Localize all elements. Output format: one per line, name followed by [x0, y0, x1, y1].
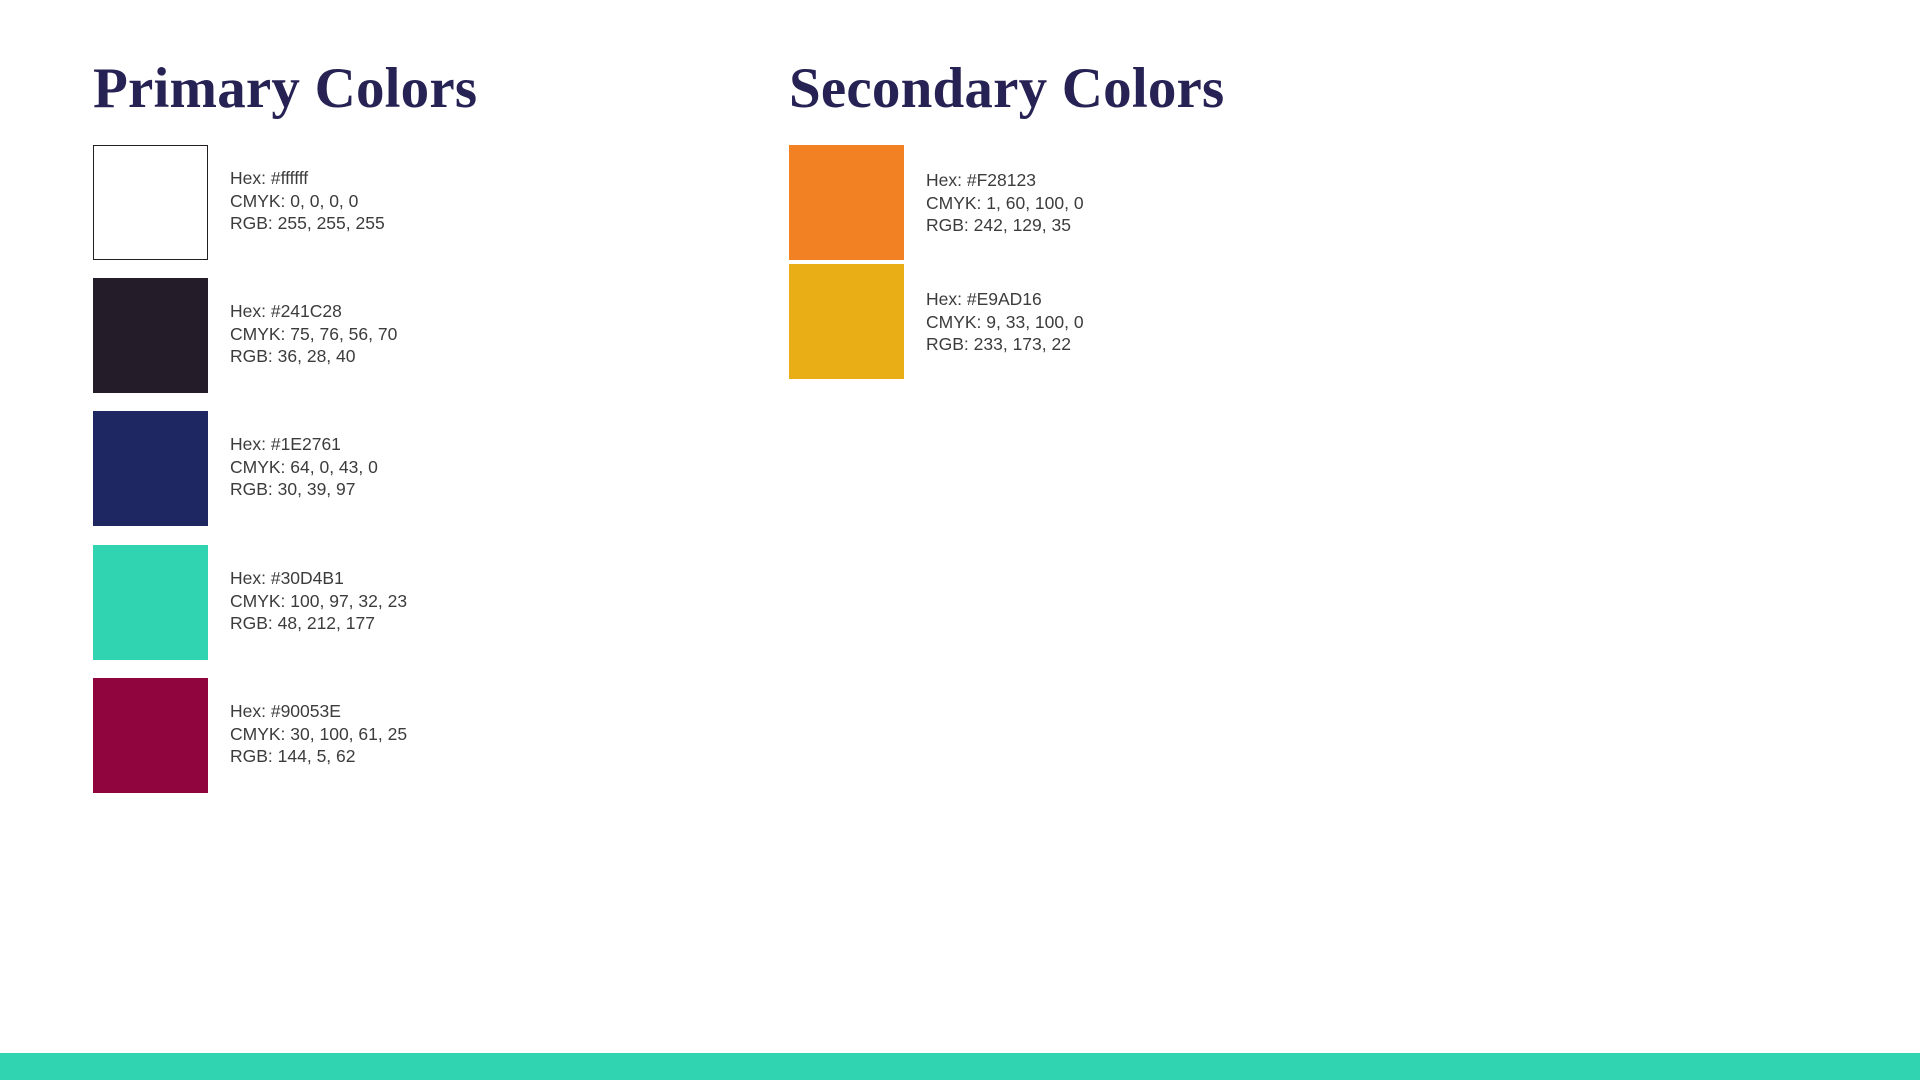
swatch-row-crimson: Hex: #90053E CMYK: 30, 100, 61, 25 RGB: …	[93, 678, 407, 793]
swatch-chip-dark-plum	[93, 278, 208, 393]
swatch-info-white: Hex: #ffffff CMYK: 0, 0, 0, 0 RGB: 255, …	[230, 145, 385, 235]
swatch-hex-value: Hex: #F28123	[926, 169, 1084, 192]
swatch-info-gold: Hex: #E9AD16 CMYK: 9, 33, 100, 0 RGB: 23…	[926, 264, 1084, 356]
swatch-hex-value: Hex: #ffffff	[230, 167, 385, 190]
color-palette-page: Primary Colors Hex: #ffffff CMYK: 0, 0, …	[0, 0, 1920, 1080]
swatch-rgb-value: RGB: 30, 39, 97	[230, 478, 378, 501]
swatch-chip-teal	[93, 545, 208, 660]
swatch-rgb-value: RGB: 242, 129, 35	[926, 214, 1084, 237]
swatch-rgb-value: RGB: 233, 173, 22	[926, 333, 1084, 356]
swatch-cmyk-value: CMYK: 0, 0, 0, 0	[230, 190, 385, 213]
swatch-info-teal: Hex: #30D4B1 CMYK: 100, 97, 32, 23 RGB: …	[230, 545, 407, 635]
swatch-info-orange: Hex: #F28123 CMYK: 1, 60, 100, 0 RGB: 24…	[926, 145, 1084, 237]
swatch-row-gold: Hex: #E9AD16 CMYK: 9, 33, 100, 0 RGB: 23…	[789, 264, 1084, 379]
swatch-cmyk-value: CMYK: 9, 33, 100, 0	[926, 311, 1084, 334]
swatch-rgb-value: RGB: 48, 212, 177	[230, 612, 407, 635]
swatch-rgb-value: RGB: 255, 255, 255	[230, 212, 385, 235]
swatch-hex-value: Hex: #90053E	[230, 700, 407, 723]
swatch-hex-value: Hex: #241C28	[230, 300, 397, 323]
footer-accent-bar	[0, 1053, 1920, 1080]
swatch-row-orange: Hex: #F28123 CMYK: 1, 60, 100, 0 RGB: 24…	[789, 145, 1084, 260]
swatch-cmyk-value: CMYK: 30, 100, 61, 25	[230, 723, 407, 746]
swatch-row-teal: Hex: #30D4B1 CMYK: 100, 97, 32, 23 RGB: …	[93, 545, 407, 660]
secondary-colors-title: Secondary Colors	[789, 60, 1224, 117]
swatch-cmyk-value: CMYK: 1, 60, 100, 0	[926, 192, 1084, 215]
swatch-info-dark-plum: Hex: #241C28 CMYK: 75, 76, 56, 70 RGB: 3…	[230, 278, 397, 368]
swatch-chip-gold	[789, 264, 904, 379]
swatch-info-navy: Hex: #1E2761 CMYK: 64, 0, 43, 0 RGB: 30,…	[230, 411, 378, 501]
swatch-chip-navy	[93, 411, 208, 526]
swatch-row-dark-plum: Hex: #241C28 CMYK: 75, 76, 56, 70 RGB: 3…	[93, 278, 397, 393]
swatch-hex-value: Hex: #30D4B1	[230, 567, 407, 590]
swatch-chip-orange	[789, 145, 904, 260]
swatch-cmyk-value: CMYK: 75, 76, 56, 70	[230, 323, 397, 346]
swatch-rgb-value: RGB: 36, 28, 40	[230, 345, 397, 368]
swatch-rgb-value: RGB: 144, 5, 62	[230, 745, 407, 768]
swatch-row-navy: Hex: #1E2761 CMYK: 64, 0, 43, 0 RGB: 30,…	[93, 411, 378, 526]
swatch-chip-white	[93, 145, 208, 260]
swatch-chip-crimson	[93, 678, 208, 793]
swatch-row-white: Hex: #ffffff CMYK: 0, 0, 0, 0 RGB: 255, …	[93, 145, 385, 260]
swatch-info-crimson: Hex: #90053E CMYK: 30, 100, 61, 25 RGB: …	[230, 678, 407, 768]
swatch-cmyk-value: CMYK: 64, 0, 43, 0	[230, 456, 378, 479]
swatch-hex-value: Hex: #E9AD16	[926, 288, 1084, 311]
swatch-hex-value: Hex: #1E2761	[230, 433, 378, 456]
primary-colors-title: Primary Colors	[93, 60, 477, 117]
swatch-cmyk-value: CMYK: 100, 97, 32, 23	[230, 590, 407, 613]
